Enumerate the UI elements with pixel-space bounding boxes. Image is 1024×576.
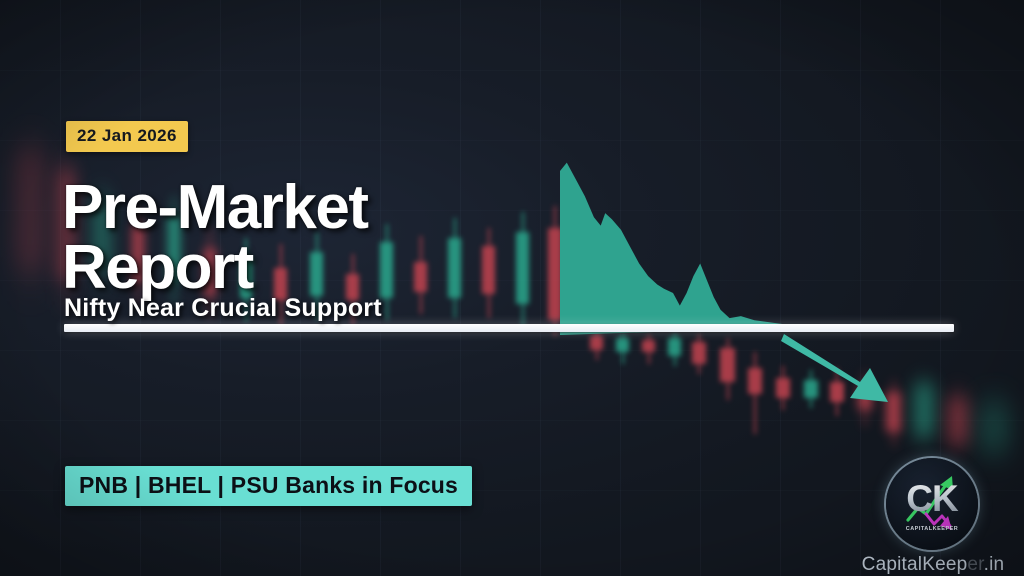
logo-circle: CK CAPITALKEEPER [886,458,978,550]
premarket-report-poster: 22 Jan 2026 Pre-Market Report Nifty Near… [0,0,1024,576]
brand-logo: CK CAPITALKEEPER CapitalKeeper.in [878,458,986,570]
page-subtitle: Nifty Near Crucial Support [64,294,382,323]
domain-faded: er [967,554,983,575]
logo-monogram: CK [886,480,978,517]
brand-domain: CapitalKeeper.in [820,554,1024,576]
domain-prefix: CapitalKeep [862,554,968,575]
focus-stocks-banner: PNB | BHEL | PSU Banks in Focus [65,466,472,506]
poster-content: 22 Jan 2026 Pre-Market Report Nifty Near… [0,0,1024,576]
domain-suffix: .in [984,554,1005,575]
date-badge: 22 Jan 2026 [66,121,188,152]
page-title: Pre-Market Report [62,178,367,297]
logo-subtext: CAPITALKEEPER [886,526,978,532]
